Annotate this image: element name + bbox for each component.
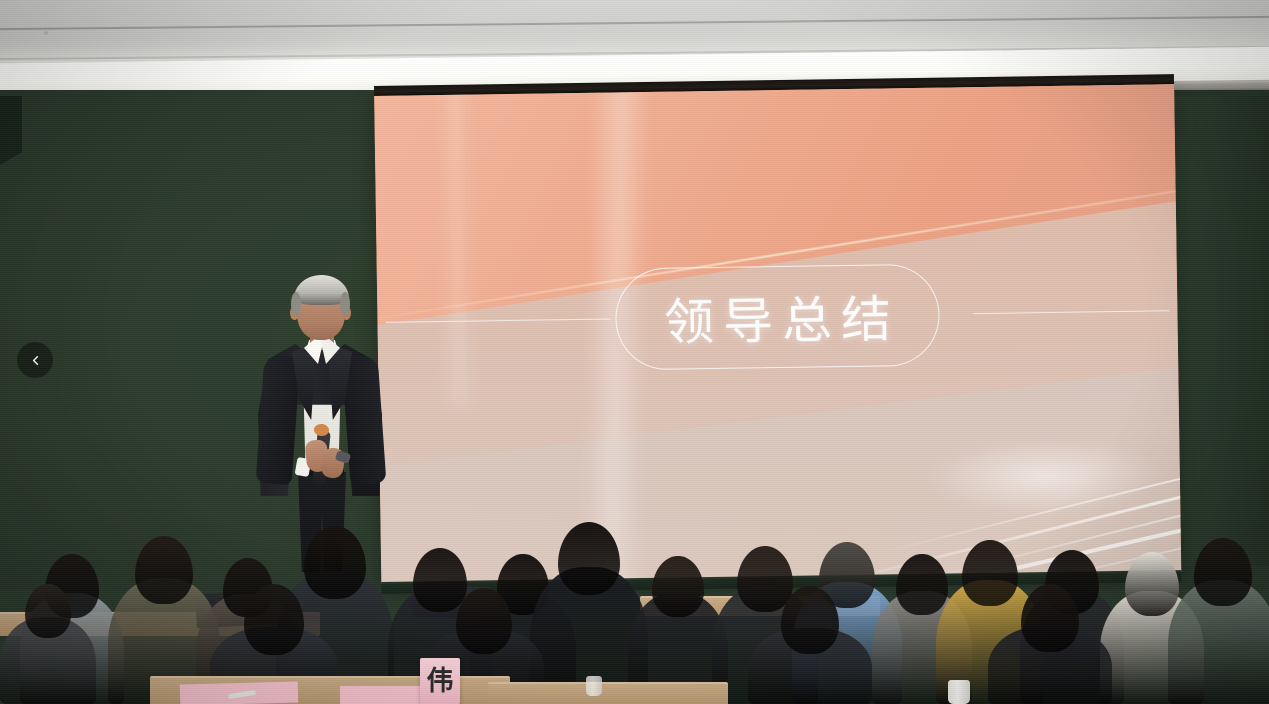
audience-member-head [456, 588, 512, 654]
audience-member-head [652, 556, 704, 617]
presentation-photo: 领导总结 [0, 0, 1269, 704]
audience-member [1168, 538, 1269, 704]
ceiling-fixture-dot [44, 31, 48, 35]
audience [0, 430, 1269, 704]
slide-title-pill: 领导总结 [615, 264, 940, 371]
slide-title-rule-right [973, 310, 1169, 314]
audience-member-head [135, 536, 193, 604]
audience-member-head [244, 584, 304, 655]
front-table-right [488, 682, 728, 704]
presenter-hair-side-right [340, 292, 350, 316]
water-cup-2 [586, 676, 602, 696]
audience-member-head [1021, 584, 1079, 652]
audience-member-head [1194, 538, 1252, 606]
name-placard: 伟 [420, 658, 460, 704]
previous-button[interactable] [17, 342, 53, 378]
audience-member [988, 584, 1112, 704]
slide-title-text: 领导总结 [654, 279, 900, 355]
presenter-hair-side-left [291, 292, 301, 316]
audience-member [748, 586, 872, 704]
slide-title-rule-left [386, 319, 611, 323]
chevron-left-icon [28, 353, 43, 368]
audience-member-head [781, 586, 839, 654]
name-placard-text: 伟 [427, 668, 454, 695]
water-cup [948, 680, 970, 704]
audience-member [0, 584, 96, 704]
audience-member-head [25, 584, 71, 638]
slide-title-group: 领导总结 [377, 260, 1178, 372]
audience-member-head [558, 522, 620, 595]
